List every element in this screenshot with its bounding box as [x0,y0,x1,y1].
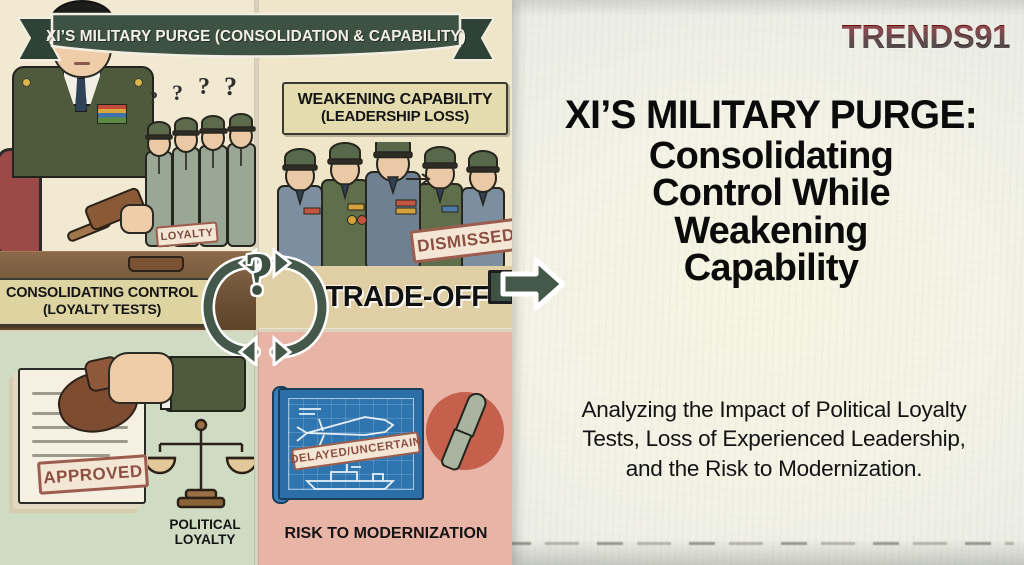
cycle-arrow-right-icon [268,248,334,366]
transfer-arrow-icon [406,172,436,184]
trends91-logo: TRENDS91 [842,20,1010,53]
political-loyalty-caption: POLITICAL LOYALTY [150,518,260,547]
risk-to-modernization-caption: RISK TO MODERNIZATION [266,525,506,542]
political-loyalty-line-1: POLITICAL [150,518,260,533]
xi-medal-ribbons [97,104,127,124]
transition-arrow-icon [500,255,566,313]
stamping-hand [108,352,174,404]
headline-line-5: Capability [528,250,1014,288]
ribbon-title: XI’S MILITARY PURGE (CONSOLIDATION & CAP… [20,12,491,68]
balance-scales-icon [148,418,254,514]
consolidating-control-plaque: CONSOLIDATING CONTROL (LOYALTY TESTS) [0,278,210,326]
question-mark-icon-3: ? [198,74,210,101]
subtitle-line-2: Tests, Loss of Experienced Leadership, [534,424,1014,453]
paper-line [32,440,128,443]
headline-subline-group: Consolidating Control While Weakening Ca… [528,138,1014,288]
trade-off-label: TRADE-OFF [325,281,488,314]
headline-line-2: Consolidating [528,138,1014,176]
gavel-sound-block [128,256,184,272]
plaque-weak-line-1: WEAKENING CAPABILITY [298,91,493,109]
question-mark-icon-2: ? [172,80,183,106]
xi-hand [120,204,154,234]
page-subtitle: Analyzing the Impact of Political Loyalt… [534,395,1014,483]
transfer-arrow-svg [406,173,436,185]
headline-line-1: XI’S MILITARY PURGE: [535,96,1006,136]
center-question-mark-icon: ? [244,244,274,304]
plaque-weak-line-2: (LEADERSHIP LOSS) [321,109,469,126]
bottom-grit-line [505,542,1014,545]
headline-line-3: Control While [528,175,1014,213]
cycle-arrow-right-svg [268,248,334,366]
question-mark-icon-4: ? [224,72,237,102]
subtitle-line-3: and the Risk to Modernization. [534,454,1014,483]
transition-arrow-svg [500,255,566,313]
illustration-panel: ? ? ? ? LOYALTY [0,0,512,565]
question-mark-icon-1: ? [149,88,158,109]
weakening-capability-plaque: WEAKENING CAPABILITY (LEADERSHIP LOSS) [282,82,508,135]
xi-shoulder-star-right [134,78,143,87]
page-title: XI’S MILITARY PURGE: Consolidating Contr… [528,96,1014,288]
balance-scales-svg [148,418,254,514]
ribbon-banner: XI’S MILITARY PURGE (CONSOLIDATION & CAP… [18,12,494,68]
infographic-root: TRENDS91 XI’S MILITARY PURGE: Consolidat… [0,0,1024,565]
headline-line-4: Weakening [528,213,1014,251]
political-loyalty-line-2: LOYALTY [150,533,260,548]
plaque-consol-line-1: CONSOLIDATING CONTROL [6,286,198,302]
subtitle-line-1: Analyzing the Impact of Political Loyalt… [534,395,1014,424]
plaque-consol-line-2: (LOYALTY TESTS) [43,302,161,317]
uniform-sleeve [164,356,246,412]
xi-shoulder-star-left [22,78,31,87]
